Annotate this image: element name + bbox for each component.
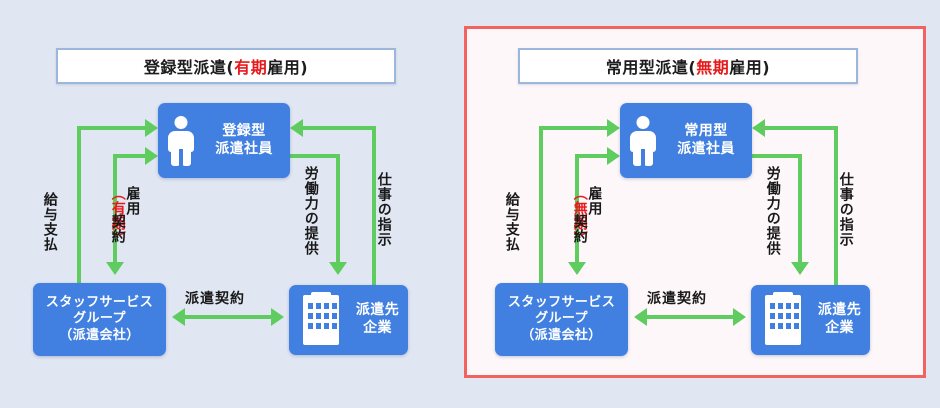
diagram-canvas: 登録型派遣(有期雇用) 給与支払 雇用 （有期） 契約 労働力の提供 仕: [0, 0, 940, 408]
node-client-registered[interactable]: 派遣先 企業: [289, 285, 408, 355]
panel-permanent-type: 常用型派遣(無期雇用) 給与支払 雇用 （無期） 契約 労働力の提供 仕事の指示…: [460, 0, 940, 408]
arrow-order-horizontal-left: [303, 126, 376, 130]
title-prefix-right: 常用型派遣(: [606, 58, 696, 77]
contract-label-head-left: 雇用: [125, 186, 140, 216]
node-worker-line1-left: 登録型: [222, 123, 265, 141]
node-agency-permanent[interactable]: スタッフサービス グループ （派遣会社）: [495, 283, 628, 356]
contract-label-head-right: 雇用: [587, 186, 602, 216]
arrow-contract-horizontal-right: [575, 154, 607, 158]
building-icon: [299, 295, 343, 345]
node-client-line1-left: 派遣先: [356, 302, 399, 320]
person-icon: [630, 116, 656, 166]
arrow-labor-head-left: [329, 262, 347, 275]
edge-label-order-left: 仕事の指示: [376, 172, 391, 247]
panel-title-registered: 登録型派遣(有期雇用): [144, 54, 308, 78]
arrow-dispatch-head-right-left: [271, 308, 284, 326]
arrow-contract-head-up-right: [607, 147, 620, 165]
edge-label-salary-left: 給与支払: [42, 192, 57, 252]
title-highlight: 有期: [234, 58, 267, 77]
node-agency-line1-left: スタッフサービス: [46, 295, 153, 312]
panel-registered-type: 登録型派遣(有期雇用) 給与支払 雇用 （有期） 契約 労働力の提供 仕: [0, 0, 470, 408]
node-agency-line3-right: （派遣会社）: [521, 328, 601, 345]
edge-label-order-right: 仕事の指示: [838, 172, 853, 247]
edge-label-labor-left: 労働力の提供: [303, 166, 318, 256]
node-agency-line2-right: グループ: [535, 311, 588, 328]
title-highlight-right: 無期: [696, 58, 729, 77]
node-agency-labels-left: スタッフサービス グループ （派遣会社）: [46, 295, 153, 345]
arrow-labor-vertical-left: [336, 154, 340, 262]
arrow-salary-horizontal-right: [539, 126, 607, 130]
node-client-permanent[interactable]: 派遣先 企業: [751, 285, 870, 355]
edge-label-salary-right: 給与支払: [504, 192, 519, 252]
arrow-dispatch-bar-left: [185, 315, 271, 319]
node-client-line2-right: 企業: [825, 320, 854, 338]
arrow-salary-vertical-left: [77, 126, 81, 290]
arrow-contract-head-up-left: [145, 147, 158, 165]
node-worker-line2-left: 派遣社員: [215, 141, 273, 159]
node-worker-labels-right: 常用型 派遣社員: [660, 123, 752, 159]
edge-label-dispatch-left: 派遣契約: [185, 288, 245, 308]
panel-title-permanent: 常用型派遣(無期雇用): [606, 54, 770, 78]
arrow-labor-horizontal-left: [290, 154, 340, 158]
title-suffix-right: 雇用): [729, 58, 770, 77]
node-client-line1-right: 派遣先: [818, 302, 861, 320]
panel-title-box-permanent: 常用型派遣(無期雇用): [518, 48, 858, 84]
arrow-dispatch-bar-right: [647, 315, 733, 319]
node-agency-labels-right: スタッフサービス グループ （派遣会社）: [508, 295, 615, 345]
node-agency-line2-left: グループ: [73, 311, 126, 328]
contract-label-tail-right: 契約: [572, 214, 587, 244]
arrow-contract-head-right: [568, 262, 586, 275]
arrow-dispatch-head-left-right: [634, 308, 647, 326]
building-icon: [761, 295, 805, 345]
arrow-order-head-right: [752, 119, 765, 137]
node-agency-line1-right: スタッフサービス: [508, 295, 615, 312]
arrow-salary-vertical-right: [539, 126, 543, 290]
node-worker-labels-left: 登録型 派遣社員: [198, 123, 290, 159]
node-worker-registered[interactable]: 登録型 派遣社員: [158, 103, 290, 178]
arrow-dispatch-head-right-right: [733, 308, 746, 326]
node-agency-registered[interactable]: スタッフサービス グループ （派遣会社）: [33, 283, 166, 356]
node-agency-line3-left: （派遣会社）: [59, 328, 139, 345]
arrow-labor-vertical-right: [798, 154, 802, 262]
arrow-salary-head-left: [145, 119, 158, 137]
title-suffix: 雇用): [267, 58, 308, 77]
edge-label-contract-right: 雇用 （無期） 契約: [572, 186, 601, 246]
arrow-salary-horizontal-left: [77, 126, 145, 130]
panel-title-box-registered: 登録型派遣(有期雇用): [56, 48, 396, 84]
node-client-labels-left: 派遣先 企業: [347, 302, 408, 338]
arrow-order-head-left: [290, 119, 303, 137]
title-prefix: 登録型派遣(: [144, 58, 234, 77]
contract-label-tail-left: 契約: [110, 214, 125, 244]
node-worker-line2-right: 派遣社員: [677, 141, 735, 159]
arrow-labor-head-right: [791, 262, 809, 275]
node-client-line2-left: 企業: [363, 320, 392, 338]
arrow-labor-horizontal-right: [752, 154, 802, 158]
arrow-contract-head-left: [106, 262, 124, 275]
edge-label-contract-left: 雇用 （有期） 契約: [110, 186, 139, 246]
node-worker-line1-right: 常用型: [684, 123, 727, 141]
person-icon: [168, 116, 194, 166]
arrow-dispatch-head-left-left: [172, 308, 185, 326]
arrow-salary-head-right: [607, 119, 620, 137]
arrow-contract-horizontal-left: [113, 154, 145, 158]
node-client-labels-right: 派遣先 企業: [809, 302, 870, 338]
arrow-order-horizontal-right: [765, 126, 838, 130]
node-worker-permanent[interactable]: 常用型 派遣社員: [620, 103, 752, 178]
edge-label-labor-right: 労働力の提供: [765, 166, 780, 256]
edge-label-dispatch-right: 派遣契約: [647, 288, 707, 308]
